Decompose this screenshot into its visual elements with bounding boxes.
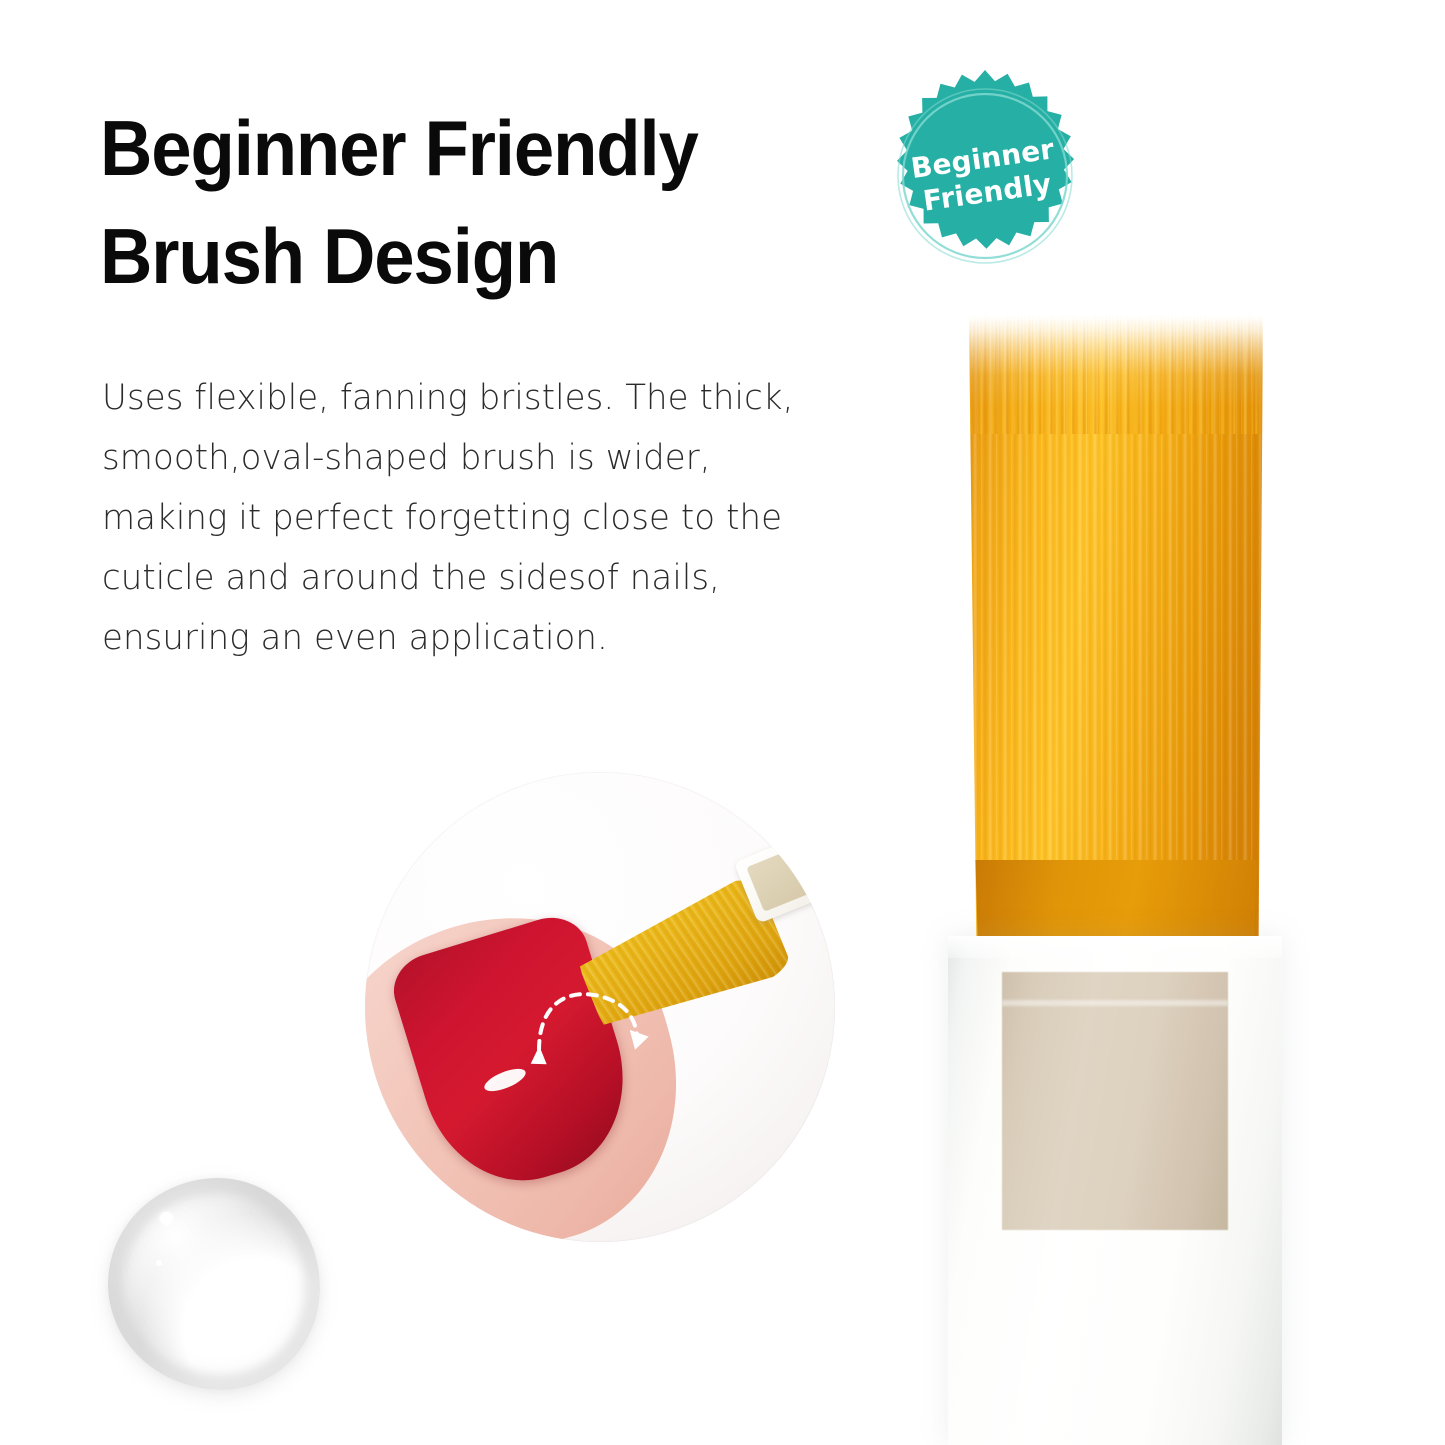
beginner-friendly-badge: Beginner Friendly — [877, 68, 1093, 284]
brush-product-photo — [930, 300, 1330, 1445]
brush-ferrule-core — [1002, 972, 1228, 1230]
brush-handle-lip — [948, 936, 1282, 958]
droplet-highlight-small — [156, 1260, 162, 1266]
inset-clip-mask — [365, 772, 835, 1242]
droplet-rim — [112, 1182, 316, 1386]
stroke-direction-arrow-icon — [525, 972, 665, 1082]
page-title: Beginner Friendly Brush Design — [100, 95, 807, 310]
water-droplet — [108, 1178, 320, 1390]
feature-description: Uses flexible, fanning bristles. The thi… — [102, 368, 888, 668]
nail-painting-inset — [365, 772, 835, 1242]
brush-ferrule-highlight — [1002, 1000, 1228, 1006]
product-feature-card: Beginner Friendly Brush Design Uses flex… — [0, 0, 1445, 1445]
starburst-icon — [877, 68, 1093, 284]
droplet-highlight-large — [160, 1212, 173, 1225]
brush-bristle-tips — [966, 314, 1266, 434]
